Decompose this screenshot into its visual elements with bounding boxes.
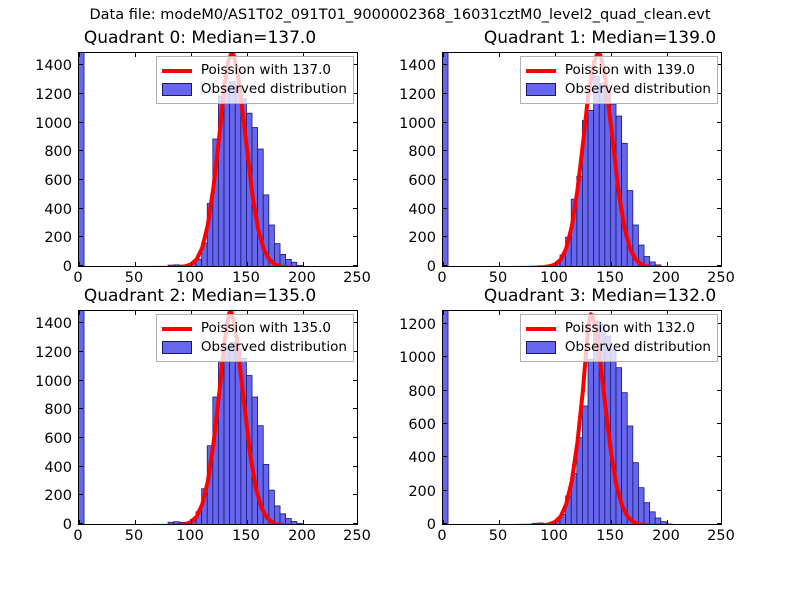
ytick-label: 800 — [392, 145, 436, 159]
subplot-quadrant-1: Quadrant 1: Median=139.0 P — [400, 28, 800, 300]
ytick-label: 1200 — [392, 318, 436, 332]
legend-label-observed: Observed distribution — [201, 340, 347, 355]
bar-swatch-icon — [526, 83, 556, 96]
ytick-label: 400 — [28, 461, 72, 475]
subplot-title-quadrant-1: Quadrant 1: Median=139.0 — [400, 28, 800, 48]
ytick-label: 1000 — [28, 375, 72, 389]
xtick-label: 0 — [422, 271, 462, 285]
legend-quadrant-1: Poission with 139.0 Observed distributio… — [520, 56, 718, 104]
xtick-label: 50 — [478, 271, 518, 285]
legend-label-observed: Observed distribution — [565, 340, 711, 355]
legend-label-fit: Poission with 132.0 — [565, 321, 695, 336]
ytick-label: 600 — [28, 174, 72, 188]
xtick-label: 100 — [534, 529, 574, 543]
ytick-label: 1200 — [28, 88, 72, 102]
xtick-label: 200 — [646, 271, 686, 285]
legend-label-observed: Observed distribution — [565, 82, 711, 97]
bar-swatch-icon — [526, 341, 556, 354]
legend-label-fit: Poission with 139.0 — [565, 63, 695, 78]
xtick-label: 50 — [114, 529, 154, 543]
xtick-label: 250 — [337, 271, 377, 285]
xtick-label: 100 — [534, 271, 574, 285]
xtick-label: 0 — [422, 529, 462, 543]
legend-quadrant-3: Poission with 132.0 Observed distributio… — [520, 314, 718, 362]
line-swatch-icon — [526, 69, 556, 73]
legend-item-fit: Poission with 135.0 — [162, 319, 347, 338]
ytick-label: 1000 — [392, 351, 436, 365]
bar-swatch-icon — [162, 83, 192, 96]
ytick-label: 200 — [392, 485, 436, 499]
figure-suptitle: Data file: modeM0/AS1T02_091T01_90000023… — [0, 6, 800, 24]
xtick-label: 50 — [114, 271, 154, 285]
ytick-label: 600 — [28, 432, 72, 446]
ytick-label: 1400 — [28, 59, 72, 73]
line-swatch-icon — [162, 69, 192, 73]
ytick-label: 1400 — [392, 59, 436, 73]
legend-item-observed: Observed distribution — [526, 338, 711, 357]
xtick-label: 150 — [590, 271, 630, 285]
xtick-label: 150 — [226, 271, 266, 285]
subplot-quadrant-0: Quadrant 0: Median=137.0 — [0, 28, 400, 300]
line-swatch-icon — [162, 327, 192, 331]
ytick-label: 1200 — [28, 346, 72, 360]
subplot-quadrant-2: Quadrant 2: Median=135.0 P — [0, 286, 400, 566]
legend-item-fit: Poission with 137.0 — [162, 61, 347, 80]
axes-quadrant-2: Poission with 135.0 Observed distributio… — [78, 310, 358, 525]
legend-item-fit: Poission with 139.0 — [526, 61, 711, 80]
ytick-label: 1000 — [392, 117, 436, 131]
ytick-label: 800 — [28, 403, 72, 417]
ytick-label: 200 — [28, 489, 72, 503]
xtick-label: 200 — [282, 271, 322, 285]
xtick-label: 100 — [170, 271, 210, 285]
xtick-label: 250 — [337, 529, 377, 543]
ytick-label: 600 — [392, 174, 436, 188]
ytick-label: 1400 — [28, 317, 72, 331]
subplot-title-quadrant-0: Quadrant 0: Median=137.0 — [0, 28, 400, 48]
subplot-quadrant-3: Quadrant 3: Median=132.0 Poission — [400, 286, 800, 566]
legend-label-fit: Poission with 135.0 — [201, 321, 331, 336]
line-swatch-icon — [526, 327, 556, 331]
xtick-label: 150 — [590, 529, 630, 543]
legend-item-fit: Poission with 132.0 — [526, 319, 711, 338]
legend-item-observed: Observed distribution — [162, 80, 347, 99]
xtick-label: 100 — [170, 529, 210, 543]
xtick-label: 250 — [701, 271, 741, 285]
ytick-label: 400 — [392, 203, 436, 217]
ytick-label: 800 — [392, 385, 436, 399]
xtick-label: 200 — [646, 529, 686, 543]
matplotlib-figure: Data file: modeM0/AS1T02_091T01_90000023… — [0, 0, 800, 600]
legend-label-observed: Observed distribution — [201, 82, 347, 97]
ytick-label: 400 — [392, 451, 436, 465]
ytick-label: 600 — [392, 418, 436, 432]
xtick-label: 150 — [226, 529, 266, 543]
legend-item-observed: Observed distribution — [526, 80, 711, 99]
ytick-label: 400 — [28, 203, 72, 217]
xtick-label: 250 — [701, 529, 741, 543]
subplot-title-quadrant-2: Quadrant 2: Median=135.0 — [0, 286, 400, 306]
legend-quadrant-0: Poission with 137.0 Observed distributio… — [156, 56, 354, 104]
ytick-label: 1200 — [392, 88, 436, 102]
bar-swatch-icon — [162, 341, 192, 354]
ytick-label: 200 — [392, 231, 436, 245]
subplot-title-quadrant-3: Quadrant 3: Median=132.0 — [400, 286, 800, 306]
xtick-label: 50 — [478, 529, 518, 543]
legend-item-observed: Observed distribution — [162, 338, 347, 357]
ytick-label: 1000 — [28, 117, 72, 131]
axes-quadrant-3: Poission with 132.0 Observed distributio… — [442, 310, 722, 525]
ytick-label: 800 — [28, 145, 72, 159]
legend-label-fit: Poission with 137.0 — [201, 63, 331, 78]
legend-quadrant-2: Poission with 135.0 Observed distributio… — [156, 314, 354, 362]
xtick-label: 200 — [282, 529, 322, 543]
axes-quadrant-1: Poission with 139.0 Observed distributio… — [442, 52, 722, 267]
xtick-label: 0 — [58, 271, 98, 285]
axes-quadrant-0: Poission with 137.0 Observed distributio… — [78, 52, 358, 267]
ytick-label: 200 — [28, 231, 72, 245]
xtick-label: 0 — [58, 529, 98, 543]
